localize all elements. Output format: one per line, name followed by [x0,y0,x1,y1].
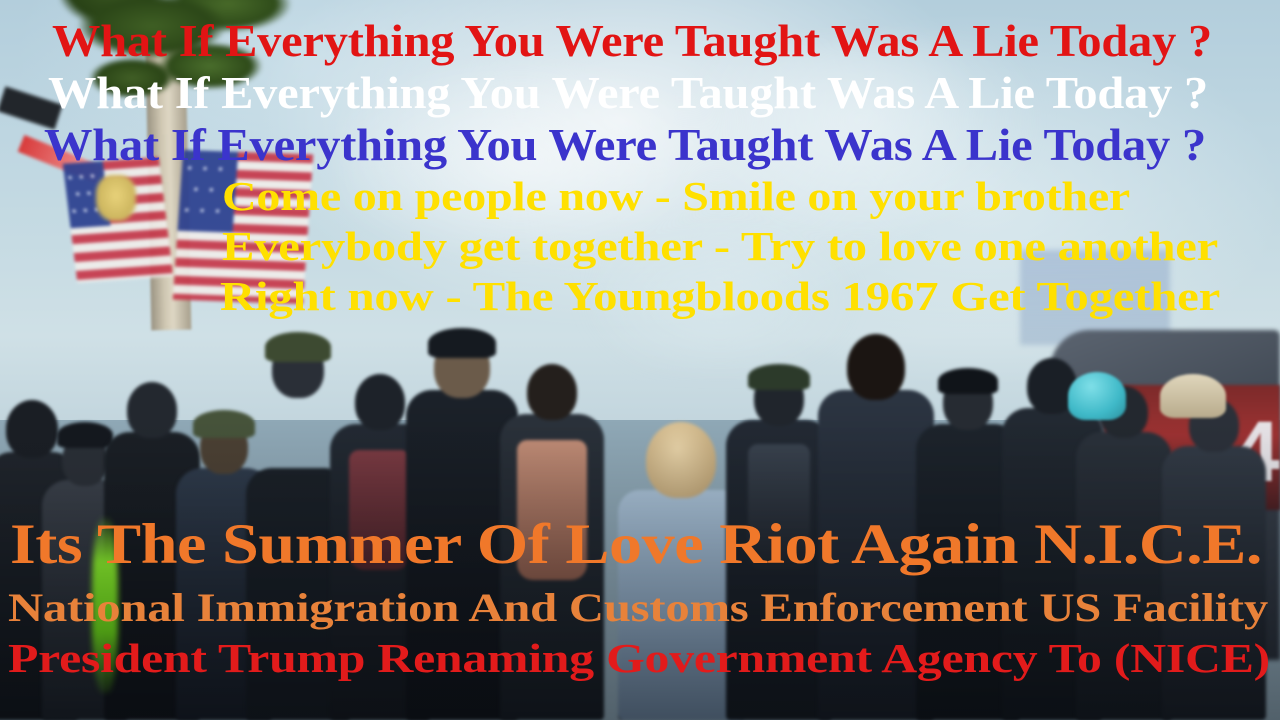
text-overlay: What If Everything You Were Taught Was A… [0,0,1280,720]
footer-agency-name: National Immigration And Customs Enforce… [8,588,1268,628]
verse-line-1: Come on people now - Smile on your broth… [222,176,1130,217]
headline-line-red: What If Everything You Were Taught Was A… [52,18,1212,64]
meme-image: 44 [0,0,1280,720]
verse-line-2: Everybody get together - Try to love one… [222,226,1218,267]
footer-headline-orange: Its The Summer Of Love Riot Again N.I.C.… [10,516,1262,573]
verse-line-3-attribution: Right now - The Youngbloods 1967 Get Tog… [220,276,1220,317]
footer-renaming-claim: President Trump Renaming Government Agen… [8,638,1270,679]
headline-line-white: What If Everything You Were Taught Was A… [48,70,1208,116]
headline-line-blue: What If Everything You Were Taught Was A… [44,122,1206,168]
